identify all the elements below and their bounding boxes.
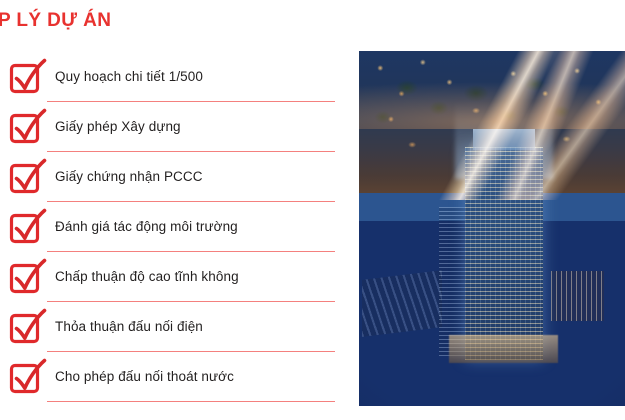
list-item-label: Quy hoạch chi tiết 1/500 — [55, 68, 203, 86]
checkbox-checked-icon[interactable] — [8, 255, 48, 299]
list-item-label: Cho phép đấu nối thoát nước — [55, 368, 234, 386]
legal-documents-checklist: Quy hoạch chi tiết 1/500 Giấy phép Xây d… — [0, 52, 340, 402]
list-item[interactable]: Giấy phép Xây dựng — [0, 102, 340, 152]
list-item-label: Thỏa thuận đấu nối điện — [55, 318, 203, 336]
list-item-label: Giấy chứng nhận PCCC — [55, 168, 203, 186]
project-render-photo — [359, 51, 625, 406]
checkbox-checked-icon[interactable] — [8, 355, 48, 399]
list-item[interactable]: Quy hoạch chi tiết 1/500 — [0, 52, 340, 102]
list-item-label: Chấp thuận độ cao tĩnh không — [55, 268, 239, 286]
checkbox-checked-icon[interactable] — [8, 205, 48, 249]
list-item-label: Đánh giá tác động môi trường — [55, 218, 238, 236]
list-item[interactable]: Giấy chứng nhận PCCC — [0, 152, 340, 202]
checkbox-checked-icon[interactable] — [8, 55, 48, 99]
checkbox-checked-icon[interactable] — [8, 105, 48, 149]
photo-vignette — [359, 51, 625, 406]
checkbox-checked-icon[interactable] — [8, 305, 48, 349]
page-title: P LÝ DỰ ÁN — [0, 9, 111, 33]
row-separator — [47, 401, 335, 402]
list-item[interactable]: Chấp thuận độ cao tĩnh không — [0, 252, 340, 302]
list-item-label: Giấy phép Xây dựng — [55, 118, 181, 136]
checkbox-checked-icon[interactable] — [8, 155, 48, 199]
list-item[interactable]: Cho phép đấu nối thoát nước — [0, 352, 340, 402]
list-item[interactable]: Thỏa thuận đấu nối điện — [0, 302, 340, 352]
list-item[interactable]: Đánh giá tác động môi trường — [0, 202, 340, 252]
